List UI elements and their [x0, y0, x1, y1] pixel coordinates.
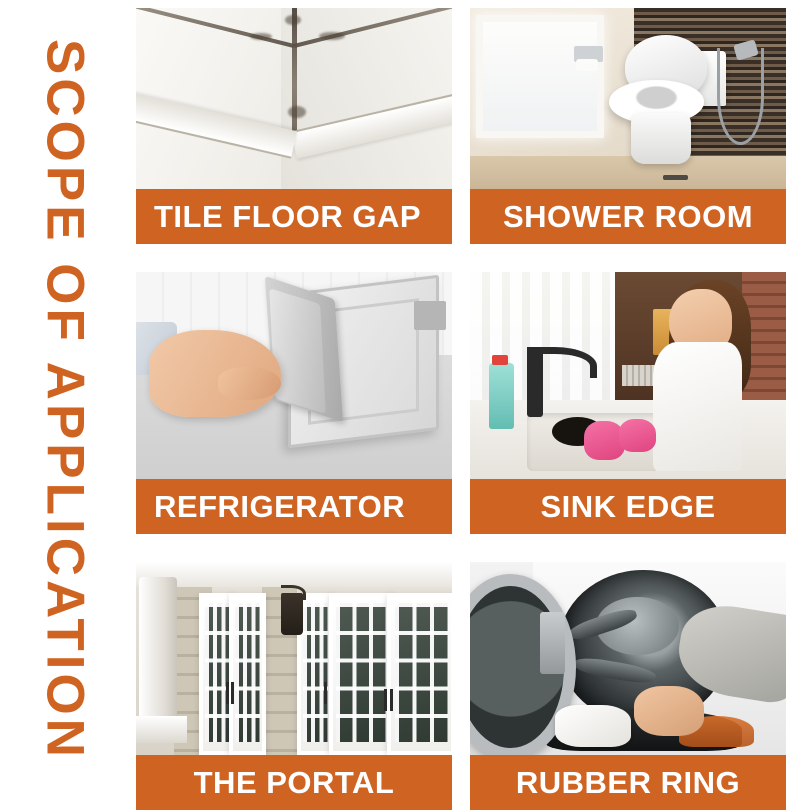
application-card-rubber-ring[interactable]: RUBBER RING	[470, 562, 786, 810]
vertical-headline-area: SCOPE OF APPLICATION	[0, 0, 130, 800]
caption-the-portal: THE PORTAL	[136, 755, 452, 810]
photo-shower-room	[470, 8, 786, 189]
photo-refrigerator	[136, 272, 452, 479]
application-card-the-portal[interactable]: THE PORTAL	[136, 562, 452, 810]
photo-rubber-ring	[470, 562, 786, 755]
photo-the-portal	[136, 562, 452, 755]
photo-sink-edge	[470, 272, 786, 479]
caption-rubber-ring: RUBBER RING	[470, 755, 786, 810]
caption-sink-edge: SINK EDGE	[470, 479, 786, 534]
application-card-sink-edge[interactable]: SINK EDGE	[470, 272, 786, 534]
page-title: SCOPE OF APPLICATION	[39, 39, 92, 761]
scope-of-application-poster: SCOPE OF APPLICATION TILE FLOOR GAP	[0, 0, 800, 800]
caption-tile-floor-gap: TILE FLOOR GAP	[136, 189, 452, 244]
caption-refrigerator: REFRIGERATOR	[136, 479, 452, 534]
application-card-refrigerator[interactable]: REFRIGERATOR	[136, 272, 452, 534]
application-card-shower-room[interactable]: SHOWER ROOM	[470, 8, 786, 244]
application-card-tile-floor-gap[interactable]: TILE FLOOR GAP	[136, 8, 452, 244]
application-grid: TILE FLOOR GAP SHOWER ROOM	[136, 8, 786, 792]
caption-shower-room: SHOWER ROOM	[470, 189, 786, 244]
photo-tile-floor-gap	[136, 8, 452, 189]
